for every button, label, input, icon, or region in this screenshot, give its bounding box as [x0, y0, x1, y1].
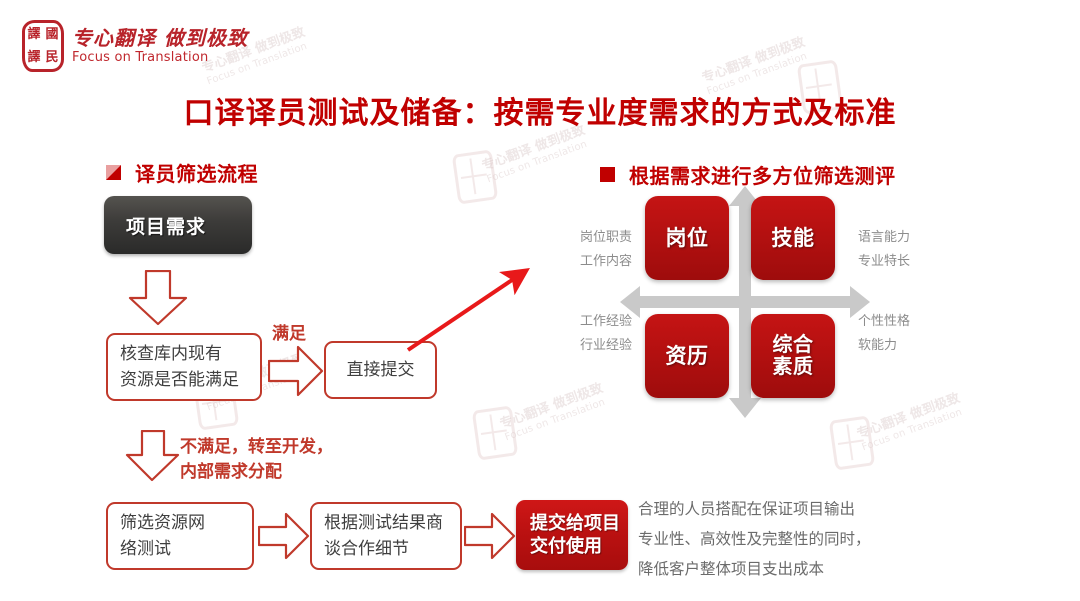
quadrant-tile-quality-line1: 综合	[773, 332, 814, 356]
quadrant-note-skill-line1: 语言能力	[858, 226, 950, 250]
quadrant-tile-quality[interactable]: 综合 素质	[751, 314, 835, 398]
arrow-down-icon	[124, 430, 182, 482]
box-deliver-project-line1: 提交给项目	[530, 513, 620, 534]
box-deliver-project-line2: 交付使用	[530, 536, 602, 557]
watermark-seal	[472, 405, 519, 460]
box-negotiate-detail-line2: 谈合作细节	[324, 539, 409, 559]
summary-line-3: 降低客户整体项目支出成本	[638, 554, 871, 584]
brand-slogan-cn: 专心翻译 做到极致	[72, 28, 248, 49]
label-not-satisfy-line1: 不满足，转至开发，	[180, 437, 333, 457]
seal-char: 民	[43, 46, 61, 69]
box-negotiate-detail-line1: 根据测试结果商	[324, 513, 443, 533]
summary-line-1: 合理的人员搭配在保证项目输出	[638, 494, 871, 524]
quadrant-note-experience-line2: 行业经验	[550, 334, 632, 358]
quadrant-tile-skill-label: 技能	[772, 227, 815, 250]
quadrant-note-position: 岗位职责 工作内容	[550, 226, 632, 274]
quadrant-tile-experience-label: 资历	[666, 345, 709, 368]
quadrant-tile-position-label: 岗位	[666, 227, 709, 250]
box-project-requirement-label: 项目需求	[104, 212, 206, 239]
seal-char: 國	[43, 23, 61, 46]
slide-canvas: 专心翻译 做到极致 Focus on Translation 专心翻译 做到极致…	[0, 0, 1080, 601]
box-screen-resource[interactable]: 筛选资源网 络测试	[106, 502, 254, 570]
watermark-en: Focus on Translation	[486, 138, 592, 187]
box-check-resource-line1: 核查库内现有	[120, 344, 222, 364]
watermark-text: 专心翻译 做到极致 Focus on Translation	[498, 381, 610, 445]
box-check-resource-label: 核查库内现有 资源是否能满足	[120, 341, 239, 394]
box-negotiate-detail[interactable]: 根据测试结果商 谈合作细节	[310, 502, 462, 570]
watermark-seal	[452, 149, 499, 204]
box-check-resource[interactable]: 核查库内现有 资源是否能满足	[106, 333, 262, 401]
arrow-right-icon	[268, 345, 324, 397]
summary-paragraph: 合理的人员搭配在保证项目输出 专业性、高效性及完整性的同时， 降低客户整体项目支…	[638, 494, 871, 585]
brand-logo: 譯 國 譯 民 专心翻译 做到极致 Focus on Translation	[22, 20, 248, 72]
box-screen-resource-line1: 筛选资源网	[120, 513, 205, 533]
brand-slogan-en: Focus on Translation	[72, 50, 248, 65]
watermark-cn: 专心翻译 做到极致	[498, 381, 605, 432]
watermark-en: Focus on Translation	[504, 396, 610, 445]
square-bullet-icon	[106, 165, 121, 180]
label-satisfy: 满足	[272, 322, 306, 347]
seal-char: 譯	[25, 46, 43, 69]
quadrant-note-skill: 语言能力 专业特长	[858, 226, 950, 274]
quadrant-note-quality-line2: 软能力	[858, 334, 950, 358]
page-title: 口译译员测试及储备：按需专业度需求的方式及标准	[0, 88, 1080, 132]
box-deliver-project[interactable]: 提交给项目 交付使用	[516, 500, 628, 570]
quadrant-tile-quality-label: 综合 素质	[773, 334, 814, 377]
seal-char: 譯	[25, 23, 43, 46]
box-check-resource-line2: 资源是否能满足	[120, 370, 239, 390]
box-screen-resource-line2: 络测试	[120, 539, 171, 559]
quadrant-note-position-line1: 岗位职责	[550, 226, 632, 250]
brand-text: 专心翻译 做到极致 Focus on Translation	[72, 28, 248, 65]
summary-line-2: 专业性、高效性及完整性的同时，	[638, 524, 871, 554]
watermark-text: 专心翻译 做到极致 Focus on Translation	[480, 123, 592, 187]
quadrant-note-skill-line2: 专业特长	[858, 250, 950, 274]
arrow-connector-to-matrix-icon	[398, 258, 538, 358]
quadrant-tile-position[interactable]: 岗位	[645, 196, 729, 280]
square-bullet-icon	[600, 167, 615, 182]
quadrant-tile-quality-line2: 素质	[773, 354, 814, 378]
label-not-satisfy: 不满足，转至开发， 内部需求分配	[180, 435, 333, 484]
quadrant-note-experience: 工作经验 行业经验	[550, 310, 632, 358]
box-negotiate-detail-label: 根据测试结果商 谈合作细节	[324, 510, 443, 563]
right-section-heading: 根据需求进行多方位筛选测评	[600, 160, 896, 189]
label-not-satisfy-line2: 内部需求分配	[180, 462, 282, 482]
watermark-en: Focus on Translation	[861, 406, 967, 455]
watermark-cn: 专心翻译 做到极致	[855, 391, 962, 442]
quadrant-tile-skill[interactable]: 技能	[751, 196, 835, 280]
box-direct-submit-label: 直接提交	[347, 357, 415, 383]
arrow-right-icon	[258, 512, 310, 560]
quadrant-note-quality-line1: 个性性格	[858, 310, 950, 334]
box-project-requirement[interactable]: 项目需求	[104, 196, 252, 254]
watermark-text: 专心翻译 做到极致 Focus on Translation	[855, 391, 967, 455]
quadrant-note-experience-line1: 工作经验	[550, 310, 632, 334]
arrow-down-icon	[126, 270, 190, 326]
left-section-label: 译员筛选流程	[135, 158, 258, 187]
company-seal-icon: 譯 國 譯 民	[22, 20, 64, 72]
box-screen-resource-label: 筛选资源网 络测试	[120, 510, 205, 563]
quadrant-note-quality: 个性性格 软能力	[858, 310, 950, 358]
arrow-right-icon	[464, 512, 516, 560]
left-section-heading: 译员筛选流程	[106, 158, 258, 187]
quadrant-note-position-line2: 工作内容	[550, 250, 632, 274]
box-deliver-project-label: 提交给项目 交付使用	[530, 512, 620, 559]
quadrant-tile-experience[interactable]: 资历	[645, 314, 729, 398]
watermark-cn: 专心翻译 做到极致	[700, 35, 807, 86]
right-section-label: 根据需求进行多方位筛选测评	[629, 160, 896, 189]
watermark-seal	[829, 415, 876, 470]
